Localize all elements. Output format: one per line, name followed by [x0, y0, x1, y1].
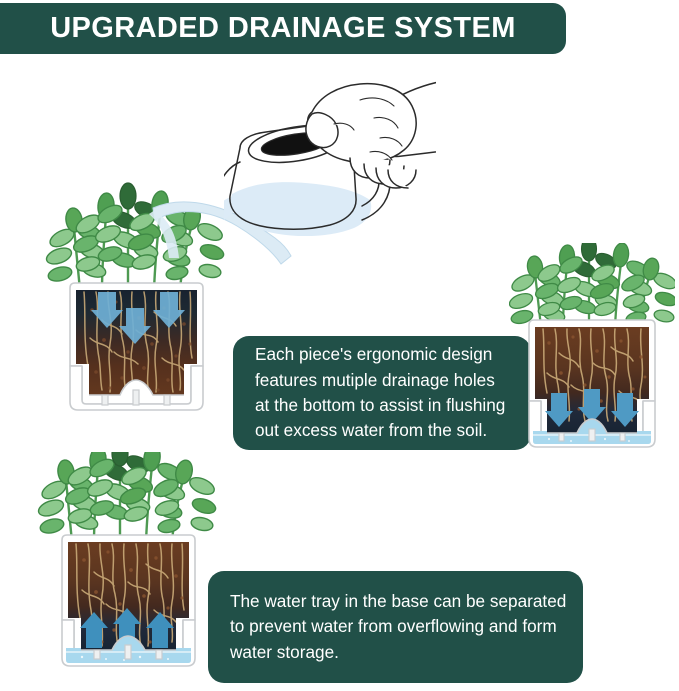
planter-draining: [509, 243, 675, 476]
hand-holding-watering-can: [224, 78, 436, 264]
page-title: UPGRADED DRAINAGE SYSTEM: [50, 14, 516, 43]
infographic-canvas: UPGRADED DRAINAGE SYSTEM: [0, 0, 679, 691]
planter-wicking-water-up: [36, 452, 221, 688]
callout-tray: The water tray in the base can be separa…: [208, 571, 583, 683]
header-banner: UPGRADED DRAINAGE SYSTEM: [0, 3, 566, 54]
callout-drainage-text: Each piece's ergonomic design features m…: [255, 342, 513, 443]
foliage: [36, 452, 217, 542]
foliage: [509, 243, 675, 327]
callout-tray-text: The water tray in the base can be separa…: [230, 589, 567, 665]
callout-drainage: Each piece's ergonomic design features m…: [233, 336, 531, 450]
can-water: [231, 182, 371, 236]
